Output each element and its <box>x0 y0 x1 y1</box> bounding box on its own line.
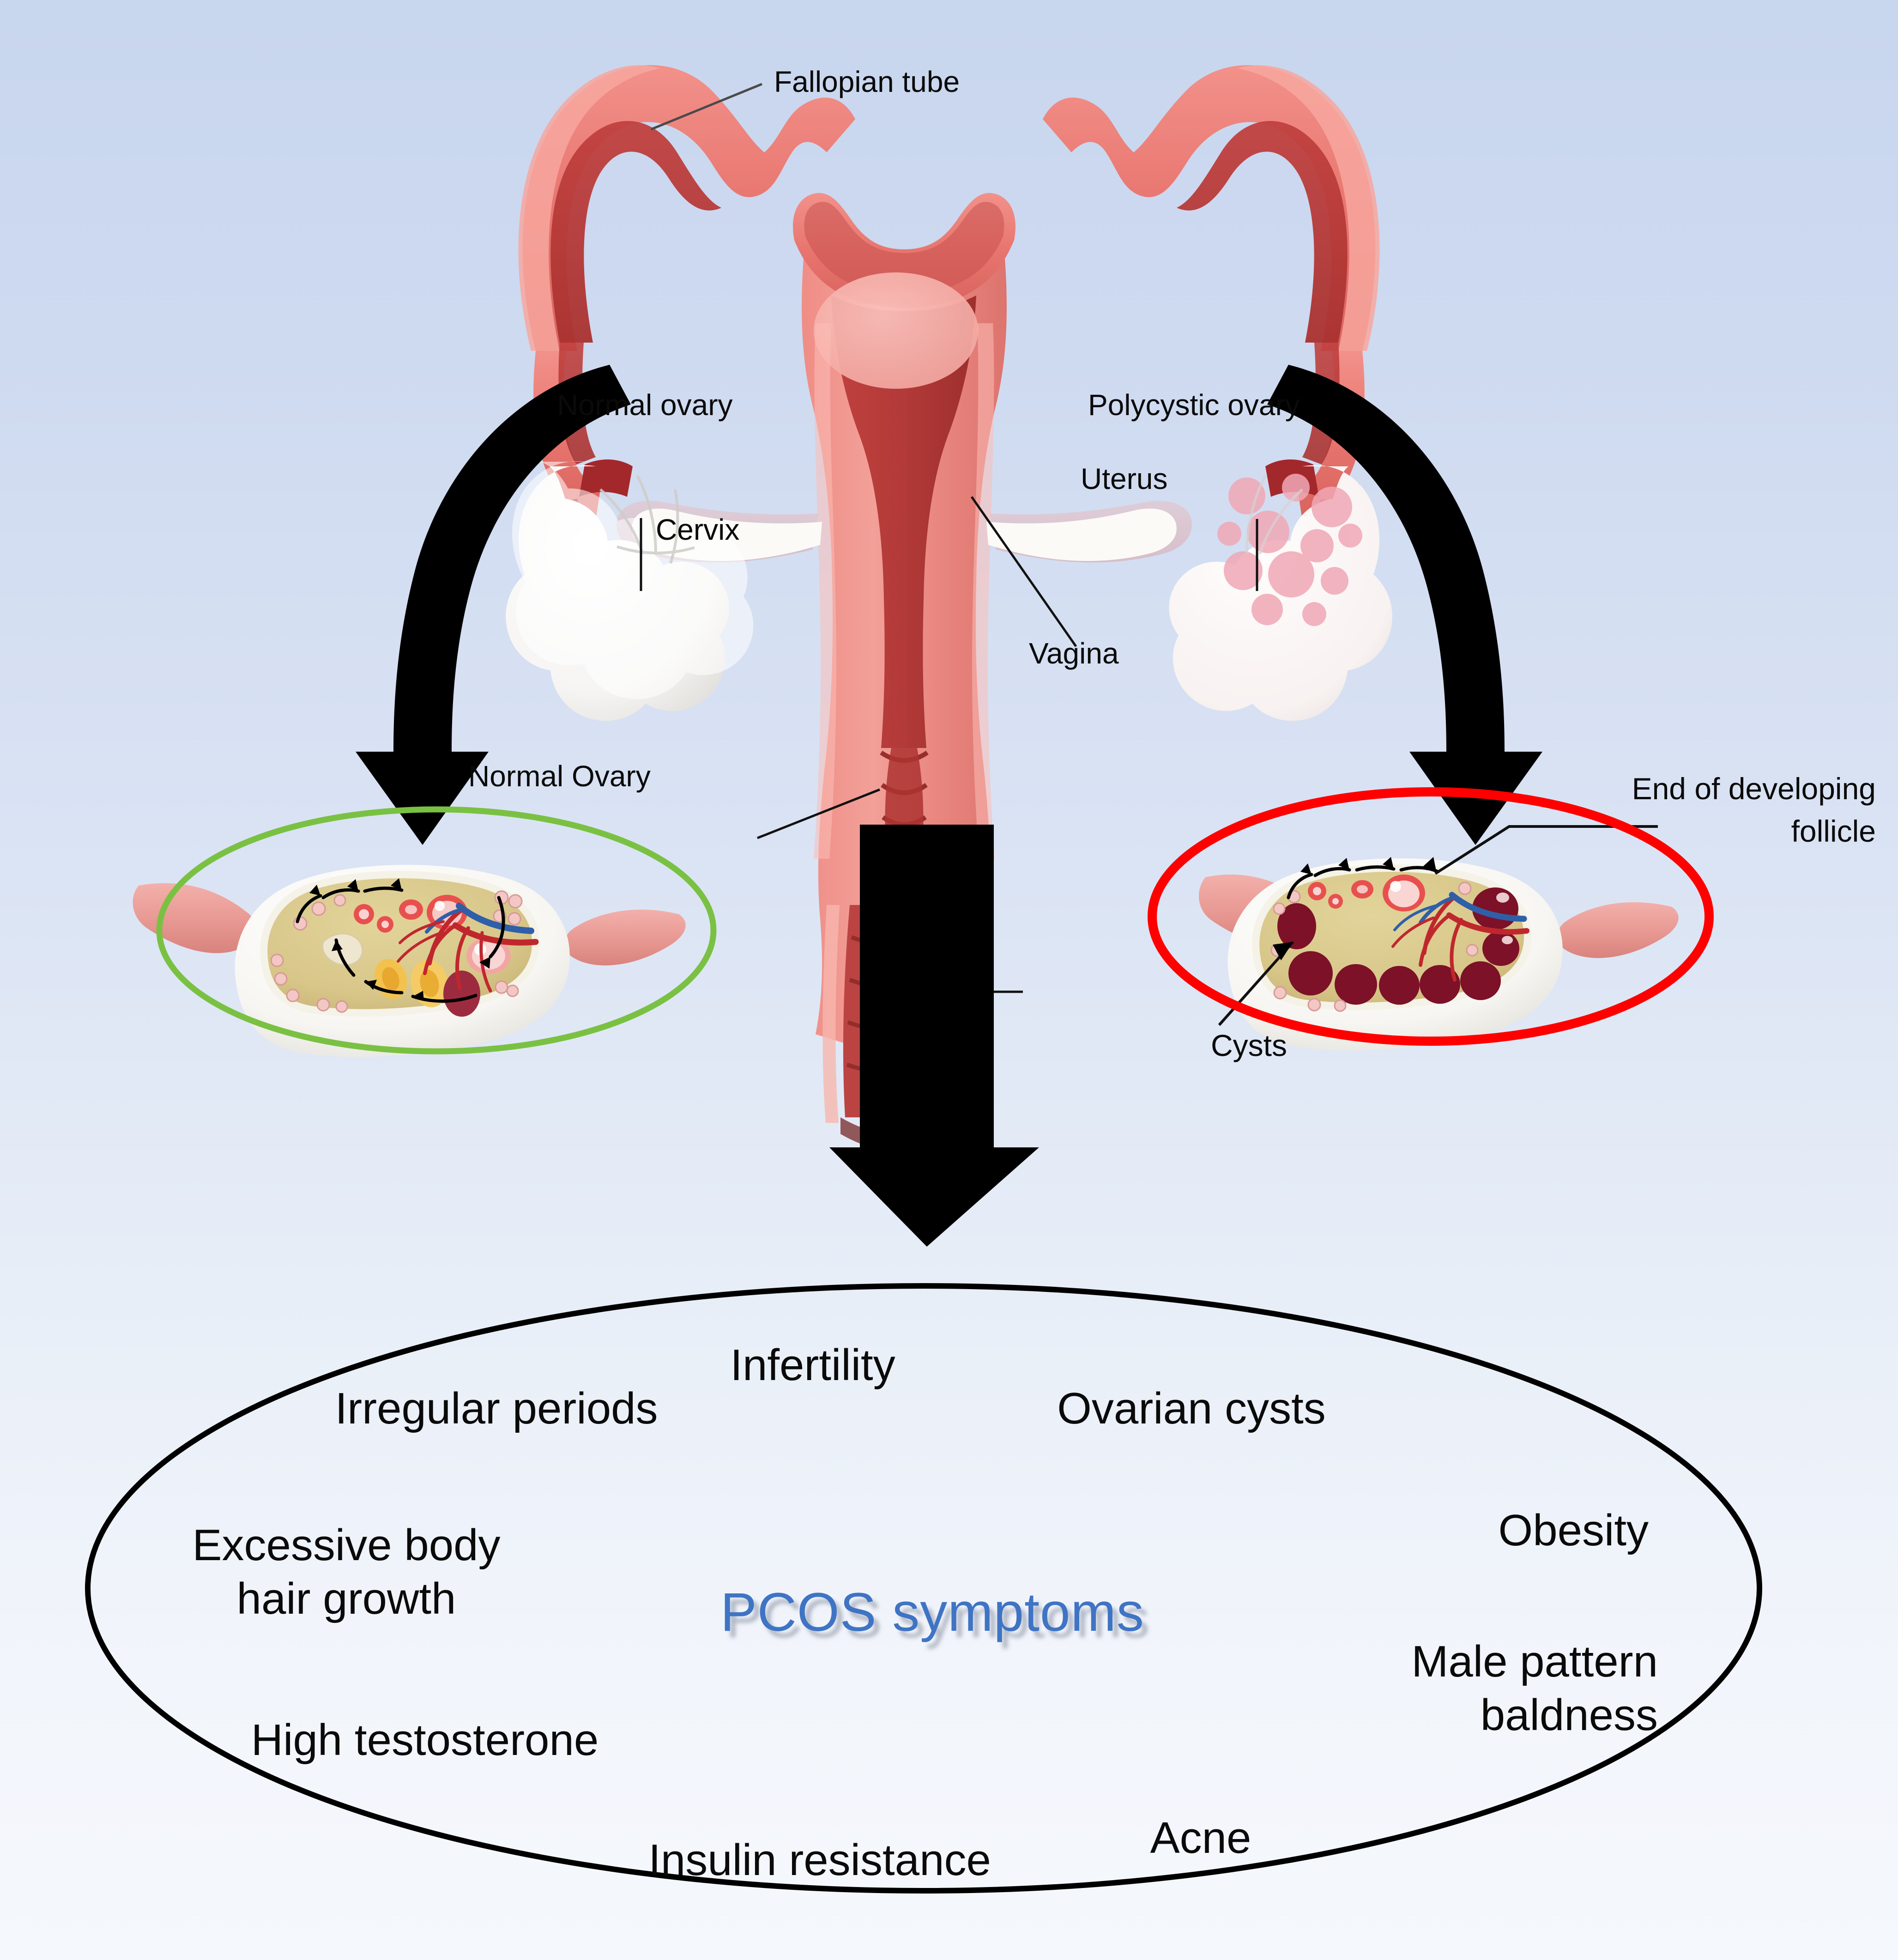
symptom-high-testosterone: High testosterone <box>194 1713 656 1767</box>
label-cysts: Cysts <box>1211 1028 1287 1063</box>
symptom-male-pattern-baldness-line1: Male pattern <box>1201 1634 1658 1689</box>
label-cervix: Cervix <box>656 513 739 547</box>
arrow-to-symptoms <box>829 825 1039 1247</box>
label-normal-ovary: Normal ovary <box>557 388 733 422</box>
symptom-excessive-body-hair-growth-line1: Excessive body <box>180 1518 513 1572</box>
polycystic-ovary-organ <box>1169 465 1392 721</box>
label-end-of-developing-follicle-line2: follicle <box>1617 814 1876 849</box>
symptom-insulin-resistance: Insulin resistance <box>600 1833 1039 1887</box>
symptom-obesity: Obesity <box>1288 1503 1649 1557</box>
symptom-acne: Acne <box>1104 1811 1298 1865</box>
label-polycystic-ovary: Polycystic ovary <box>1088 388 1300 422</box>
symptom-ovarian-cysts: Ovarian cysts <box>993 1381 1390 1435</box>
normal-ovary-organ <box>506 461 753 721</box>
figure-canvas: Fallopian tube Normal ovary Polycystic o… <box>0 0 1898 1960</box>
left-tube-lumen <box>550 121 721 343</box>
label-uterus: Uterus <box>1081 462 1168 496</box>
pcos-symptoms-title: PCOS symptoms <box>720 1581 1144 1644</box>
symptom-male-pattern-baldness-line2: baldness <box>1201 1688 1658 1742</box>
label-fallopian-tube: Fallopian tube <box>774 65 960 99</box>
inset-title-normal-ovary: Normal Ovary <box>468 759 651 793</box>
symptom-irregular-periods: Irregular periods <box>277 1381 716 1435</box>
symptom-infertility: Infertility <box>688 1338 937 1392</box>
normal-ovary-inset <box>133 809 713 1057</box>
symptom-excessive-body-hair-growth-line2: hair growth <box>180 1572 513 1626</box>
label-end-of-developing-follicle-line1: End of developing <box>1617 771 1876 806</box>
label-vagina: Vagina <box>1029 636 1119 670</box>
